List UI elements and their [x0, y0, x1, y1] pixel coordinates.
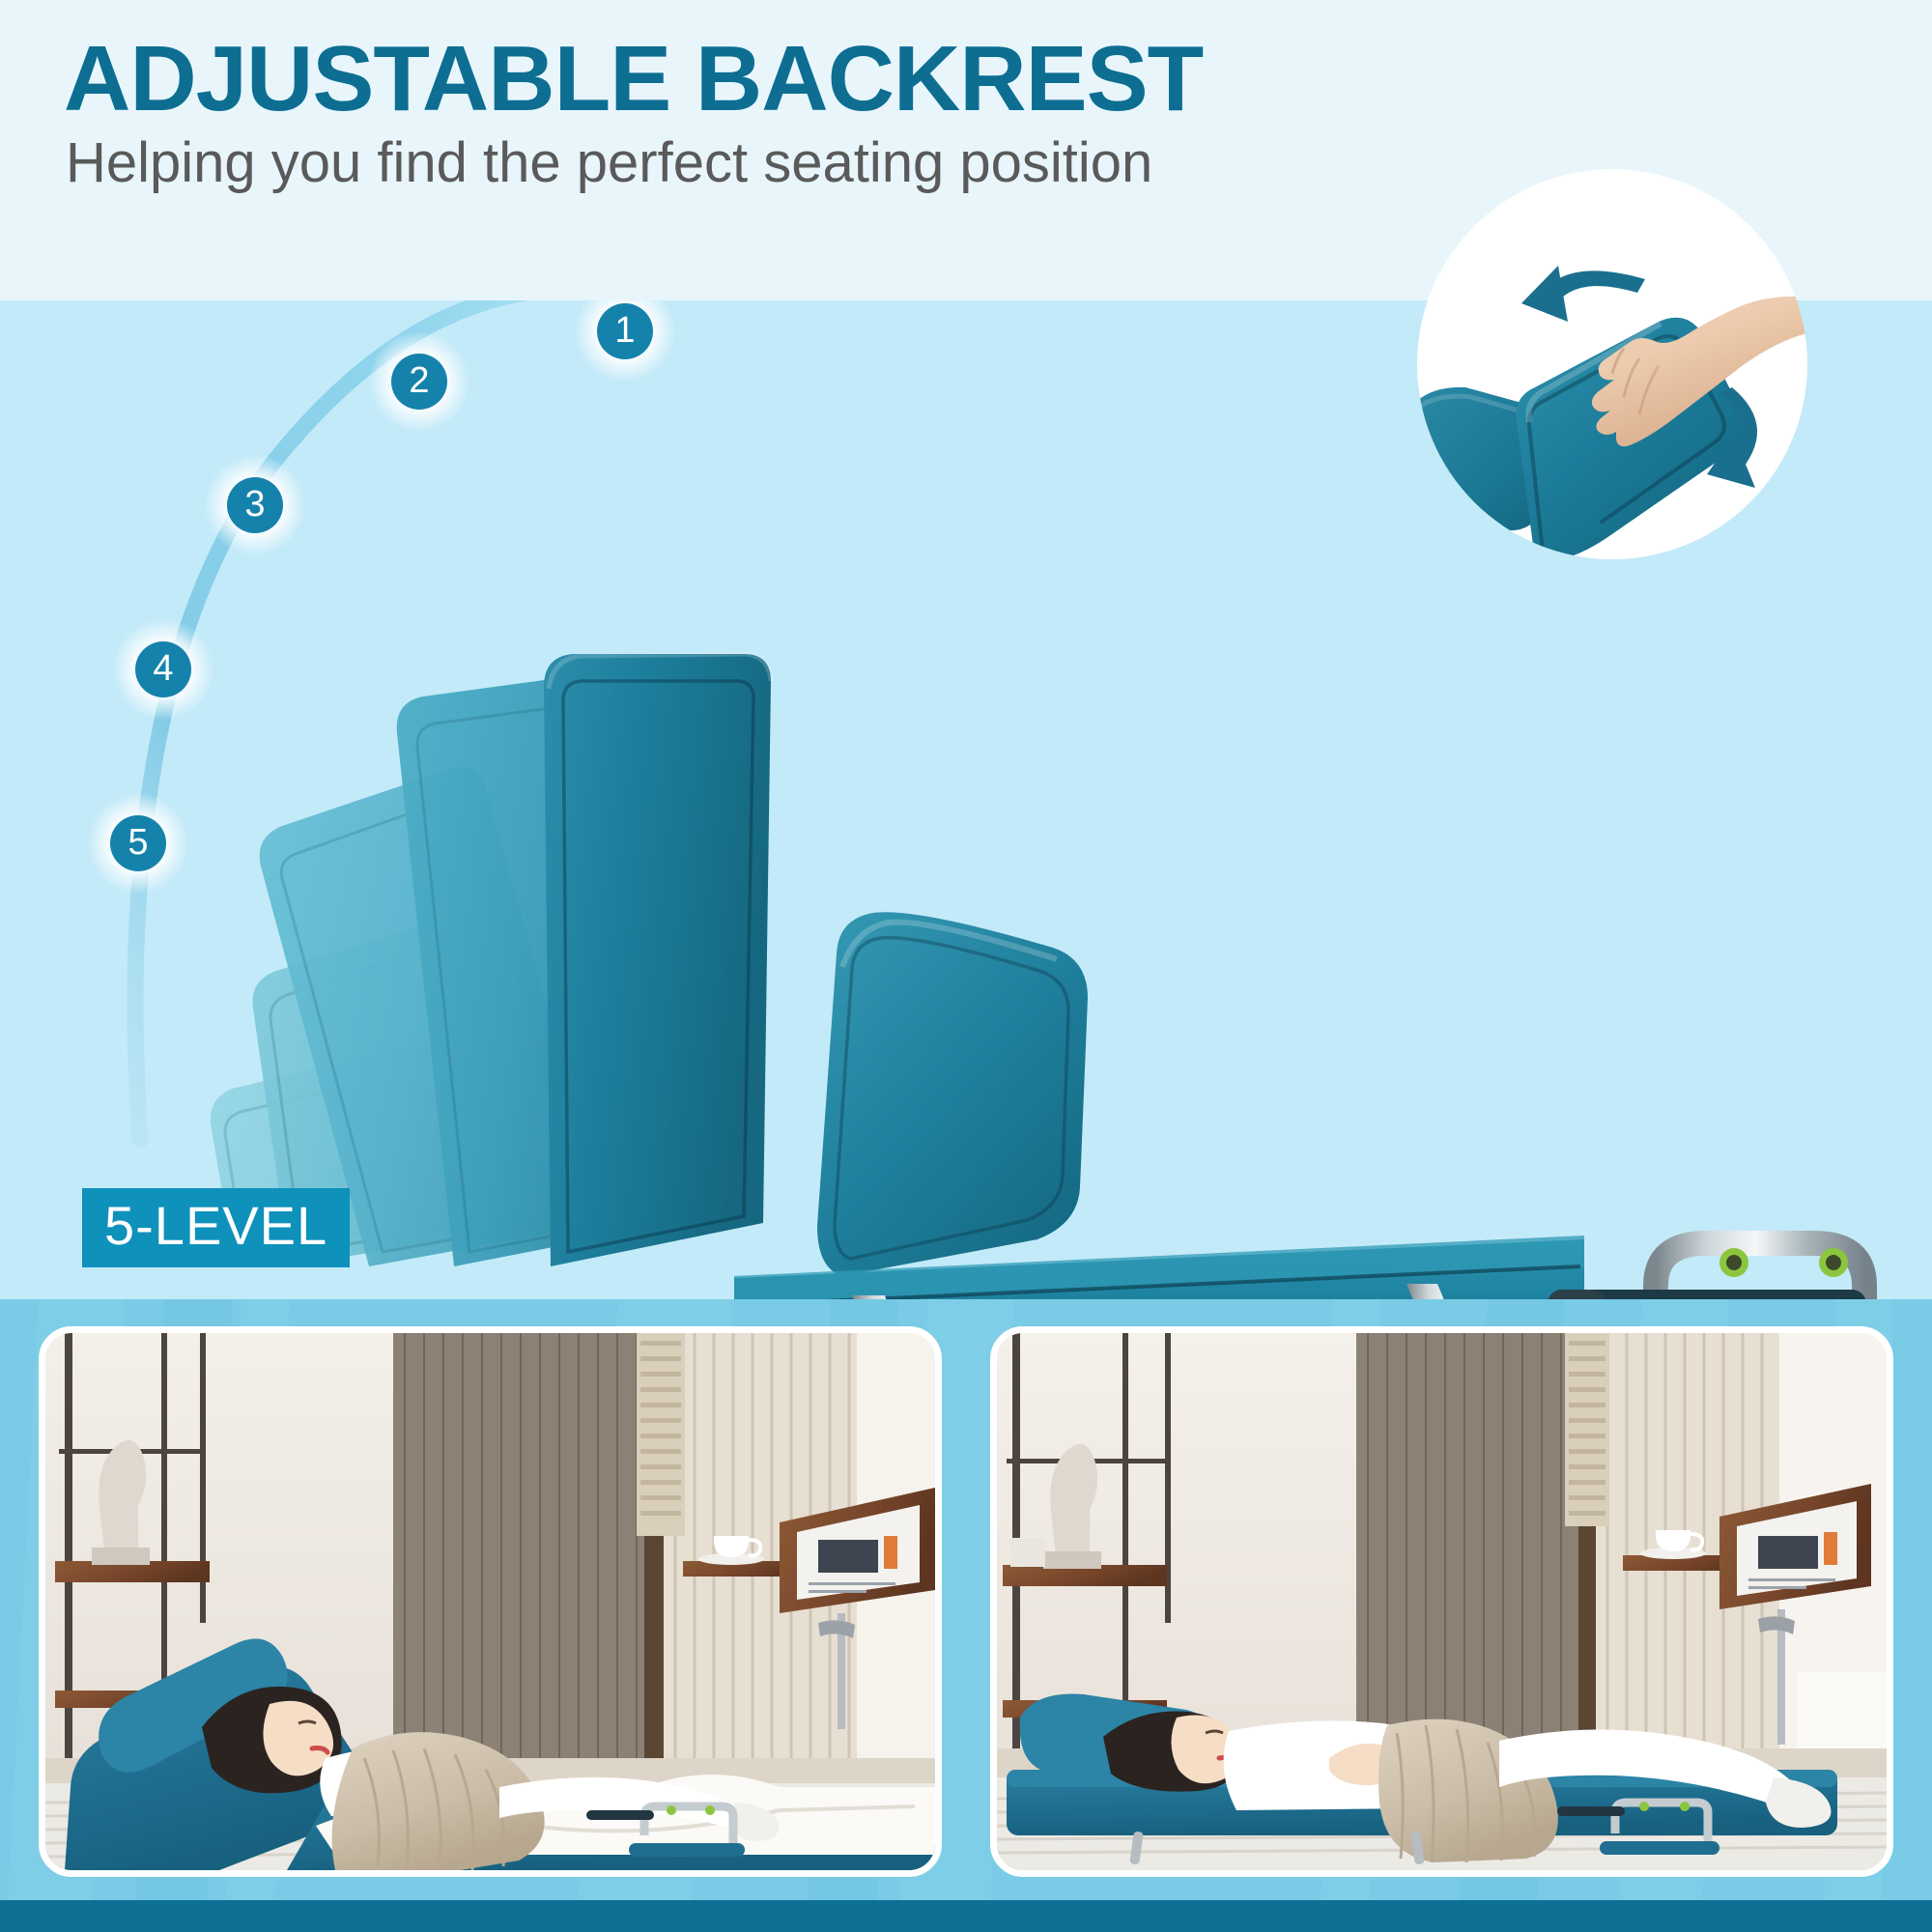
- metal-handle-bar: [1546, 1243, 1930, 1299]
- page-title: ADJUSTABLE BACKREST: [64, 31, 1203, 128]
- backrest-position-1: [544, 654, 771, 1266]
- head-pillow: [817, 912, 1088, 1276]
- position-badge-2[interactable]: 2: [369, 331, 469, 432]
- rotate-up-arrow: [1521, 266, 1645, 322]
- footer-strip: [0, 1900, 1932, 1932]
- photo-flat-lying[interactable]: [990, 1326, 1893, 1877]
- position-badge-3[interactable]: 3: [205, 455, 305, 555]
- position-badge-1-label: 1: [597, 303, 653, 359]
- lifestyle-photo-section: [0, 1299, 1932, 1900]
- level-tag: 5-LEVEL: [82, 1188, 350, 1267]
- position-badge-3-label: 3: [227, 477, 283, 533]
- position-badge-4-label: 4: [135, 641, 191, 697]
- position-badge-2-label: 2: [391, 354, 447, 410]
- backrest-adjust-detail-inset: [1417, 169, 1807, 559]
- photo-reclined-sitting[interactable]: [39, 1326, 942, 1877]
- position-badge-5[interactable]: 5: [88, 793, 188, 894]
- position-badge-5-label: 5: [110, 815, 166, 871]
- position-badge-4[interactable]: 4: [113, 619, 213, 720]
- page-subtitle: Helping you find the perfect seating pos…: [66, 131, 1152, 196]
